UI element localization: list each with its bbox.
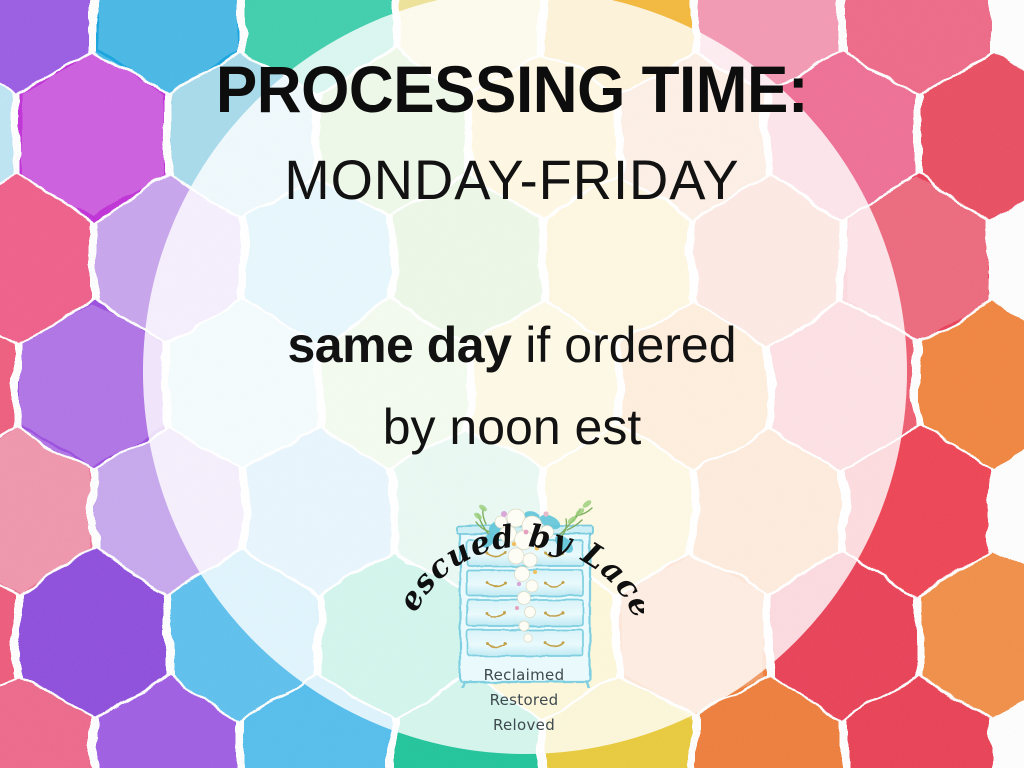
noon-cutoff-line: by noon est <box>0 402 1024 452</box>
poster-canvas: PROCESSING TIME: MONDAY-FRIDAY same day … <box>0 0 1024 768</box>
processing-days: MONDAY-FRIDAY <box>15 152 1008 208</box>
same-day-emphasis: same day <box>287 317 511 373</box>
same-day-line: same day if ordered <box>0 320 1024 370</box>
tagline-line-1: Reclaimed <box>404 668 644 683</box>
tagline-line-2: Restored <box>404 693 644 708</box>
page-title: PROCESSING TIME: <box>31 56 994 122</box>
tagline-line-3: Reloved <box>404 718 644 733</box>
same-day-rest: if ordered <box>511 317 736 373</box>
